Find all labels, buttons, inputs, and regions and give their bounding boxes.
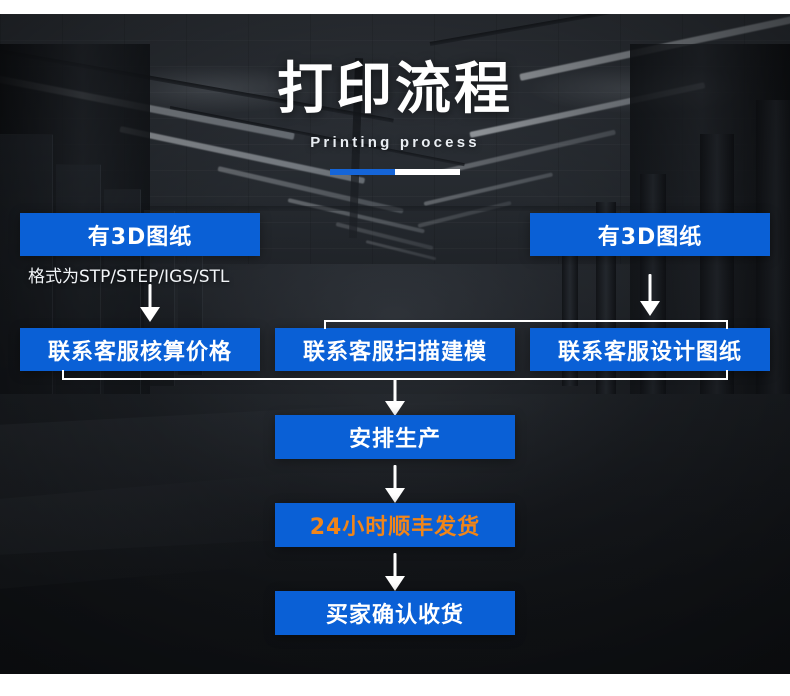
format-caption: 格式为STP/STEP/IGS/STL [28,262,229,287]
bracket-connector-icon-top-right-leg [726,320,728,329]
flow-box-contact-service-scan-model[interactable]: 联系客服扫描建模 [275,328,515,371]
process-flowchart: 有3D图纸 有3D图纸 格式为STP/STEP/IGS/STL 联系客服核算价格… [0,0,790,696]
arrow-down-icon [139,284,161,322]
top-white-margin [0,0,790,14]
flow-box-have-3d-drawing-left[interactable]: 有3D图纸 [20,213,260,256]
arrow-down-icon [384,465,406,503]
bottom-white-margin [0,674,790,696]
flow-box-arrange-production[interactable]: 安排生产 [275,415,515,459]
flow-box-24h-sf-express-shipping[interactable]: 24小时顺丰发货 [275,503,515,547]
flow-box-have-3d-drawing-right[interactable]: 有3D图纸 [530,213,770,256]
arrow-down-icon [639,274,661,316]
flow-box-buyer-confirm-receipt[interactable]: 买家确认收货 [275,591,515,635]
bracket-connector-icon-bottom-right-leg [726,370,728,379]
printing-process-poster: 打印流程 Printing process 有3D图纸 有3D图纸 格式为STP… [0,0,790,696]
bracket-connector-icon-top [324,320,728,322]
arrow-down-icon [384,553,406,591]
flow-box-contact-service-quote[interactable]: 联系客服核算价格 [20,328,260,371]
bracket-connector-icon-bottom-left-leg [62,370,64,379]
flow-box-contact-service-design-drawing[interactable]: 联系客服设计图纸 [530,328,770,371]
arrow-down-icon [384,378,406,416]
bracket-connector-icon-top-left-leg [324,320,326,329]
